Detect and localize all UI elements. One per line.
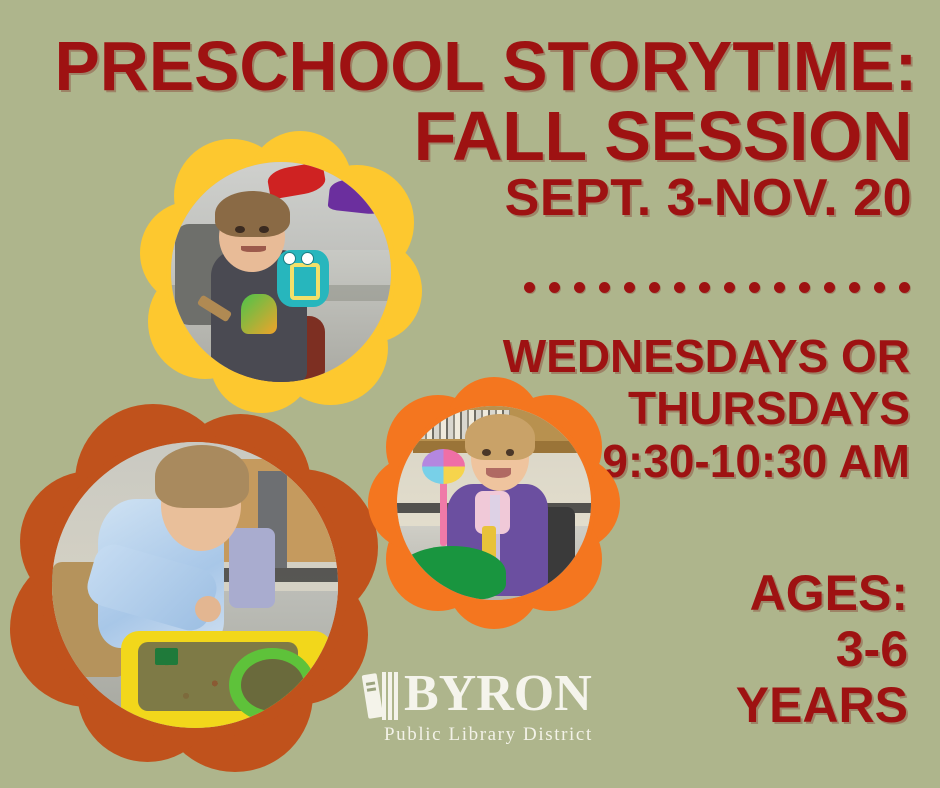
divider-dot bbox=[724, 282, 735, 293]
scene-bowl-contents bbox=[241, 659, 304, 710]
shelf-bars-icon bbox=[382, 672, 400, 720]
scene-green-craft bbox=[241, 294, 276, 334]
scene-child-eye-left bbox=[482, 449, 491, 456]
divider-dot bbox=[674, 282, 685, 293]
scene-child-hand bbox=[195, 596, 221, 622]
photo-boy-puppet bbox=[137, 128, 425, 416]
scene-pinwheel bbox=[422, 449, 465, 484]
divider-dot bbox=[649, 282, 660, 293]
scene-child-hair bbox=[465, 414, 535, 461]
divider-dot bbox=[824, 282, 835, 293]
logo-wordmark: BYRON bbox=[404, 668, 592, 720]
logo-row: BYRON bbox=[362, 668, 592, 720]
dot-divider bbox=[524, 282, 910, 293]
book-shelf-icon bbox=[362, 668, 402, 720]
scene-purple-toy bbox=[328, 176, 391, 216]
scene-child-eye-left bbox=[235, 226, 245, 233]
library-logo: BYRON Public Library District bbox=[362, 668, 624, 754]
photo-girl-pinwheel bbox=[367, 376, 621, 630]
poster-canvas: PRESCHOOL STORYTIME: FALL SESSION SEPT. … bbox=[0, 0, 940, 788]
schedule-line-1: WEDNESDAYS OR bbox=[410, 330, 910, 382]
scene-child-eye-right bbox=[506, 449, 515, 456]
divider-dot bbox=[574, 282, 585, 293]
divider-dot bbox=[524, 282, 535, 293]
photo-image-girl-pinwheel bbox=[397, 406, 591, 600]
divider-dot bbox=[624, 282, 635, 293]
photo-boy-sensory-bin bbox=[8, 402, 380, 774]
scene-child-hair bbox=[215, 191, 290, 237]
scene-puppet-letter bbox=[290, 263, 320, 300]
scene-child-eye-right bbox=[259, 226, 269, 233]
headline-line-1: PRESCHOOL STORYTIME: bbox=[55, 34, 912, 98]
scene-toy bbox=[155, 648, 178, 665]
photo-image-boy-puppet bbox=[171, 162, 391, 382]
divider-dot bbox=[749, 282, 760, 293]
scene-chair-right bbox=[229, 528, 275, 608]
photo-image-boy-sensory-bin bbox=[52, 442, 338, 728]
scene-child-hair bbox=[155, 445, 249, 508]
scene-puppet-eye-right bbox=[301, 252, 314, 265]
divider-dot bbox=[849, 282, 860, 293]
scene-child-mouth bbox=[241, 246, 265, 253]
divider-dot bbox=[874, 282, 885, 293]
divider-dot bbox=[899, 282, 910, 293]
scene-green-tray bbox=[397, 546, 506, 600]
logo-tagline: Public Library District bbox=[384, 724, 593, 746]
divider-dot bbox=[599, 282, 610, 293]
divider-dot bbox=[549, 282, 560, 293]
divider-dot bbox=[699, 282, 710, 293]
divider-dot bbox=[799, 282, 810, 293]
divider-dot bbox=[774, 282, 785, 293]
scene-child-mouth bbox=[486, 468, 511, 478]
book-icon bbox=[362, 673, 384, 719]
